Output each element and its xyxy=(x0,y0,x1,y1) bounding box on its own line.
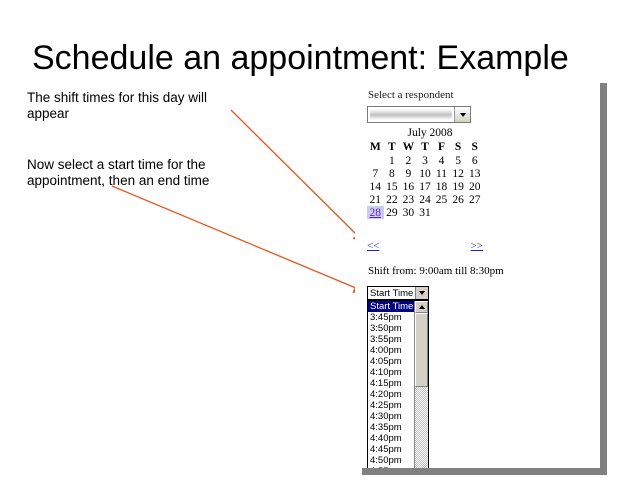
caret-up-icon[interactable] xyxy=(415,301,428,313)
calendar-week-row: 21 22 23 24 25 26 27 xyxy=(367,193,483,206)
calendar-day[interactable]: 2 xyxy=(400,154,417,167)
start-time-selected-value: Start Time xyxy=(368,288,415,299)
calendar-day-selected[interactable]: 28 xyxy=(367,206,384,219)
embedded-screenshot-panel: Select a respondent July 2008 M T W T F … xyxy=(355,83,600,468)
calendar-weekday: T xyxy=(384,140,401,154)
start-time-option[interactable]: 4:10pm xyxy=(368,367,414,378)
callout-text-select-start-time: Now select a start time for the appointm… xyxy=(27,157,242,189)
start-time-option[interactable]: 4:15pm xyxy=(368,378,414,389)
calendar-weekday: M xyxy=(367,140,384,154)
calendar-day[interactable] xyxy=(466,206,483,219)
calendar-weekday: F xyxy=(433,140,450,154)
start-time-option[interactable]: 4:00pm xyxy=(368,345,414,356)
start-time-option[interactable]: 4:50pm xyxy=(368,455,414,466)
listbox-scrollbar[interactable] xyxy=(414,301,428,468)
page-title: Schedule an appointment: Example xyxy=(32,38,612,78)
calendar-day[interactable]: 29 xyxy=(384,206,401,219)
calendar-grid: M T W T F S S 1 2 3 4 xyxy=(367,140,483,219)
calendar-day[interactable]: 15 xyxy=(384,180,401,193)
calendar-weekday-row: M T W T F S S xyxy=(367,140,483,154)
calendar-day[interactable] xyxy=(450,206,467,219)
calendar-day[interactable] xyxy=(433,206,450,219)
start-time-option[interactable]: 4:45pm xyxy=(368,444,414,455)
calendar-widget: July 2008 M T W T F S S xyxy=(367,127,487,219)
start-time-option[interactable]: 3:50pm xyxy=(368,323,414,334)
calendar-day[interactable]: 20 xyxy=(466,180,483,193)
start-time-select-closed[interactable]: Start Time xyxy=(367,286,429,300)
start-time-option[interactable]: 4:40pm xyxy=(368,433,414,444)
calendar-day[interactable]: 8 xyxy=(384,167,401,180)
calendar-day[interactable]: 22 xyxy=(384,193,401,206)
calendar-day[interactable]: 5 xyxy=(450,154,467,167)
calendar-navigation: << >> xyxy=(367,240,483,252)
calendar-day[interactable]: 3 xyxy=(417,154,434,167)
calendar-day[interactable]: 27 xyxy=(466,193,483,206)
calendar-day[interactable]: 12 xyxy=(450,167,467,180)
calendar-weekday: T xyxy=(417,140,434,154)
calendar-next-month-link[interactable]: >> xyxy=(471,240,483,252)
calendar-day[interactable]: 14 xyxy=(367,180,384,193)
callout-text-shift-times: The shift times for this day will appear xyxy=(27,90,242,122)
calendar-day[interactable]: 11 xyxy=(433,167,450,180)
chevron-down-icon[interactable] xyxy=(415,287,428,299)
start-time-option[interactable]: 4:25pm xyxy=(368,400,414,411)
scrollbar-track[interactable] xyxy=(415,313,428,468)
start-time-option[interactable]: 4:30pm xyxy=(368,411,414,422)
calendar-week-row: 28 29 30 31 xyxy=(367,206,483,219)
calendar-day[interactable]: 26 xyxy=(450,193,467,206)
calendar-weekday: S xyxy=(466,140,483,154)
start-time-option[interactable]: 3:55pm xyxy=(368,334,414,345)
calendar-day[interactable]: 16 xyxy=(400,180,417,193)
chevron-down-icon[interactable] xyxy=(454,107,470,122)
calendar-day[interactable]: 4 xyxy=(433,154,450,167)
start-time-listbox-open[interactable]: Start Time 3:45pm 3:50pm 3:55pm 4:00pm 4… xyxy=(367,300,429,468)
shift-hours-text: Shift from: 9:00am till 8:30pm xyxy=(368,265,504,277)
start-time-option[interactable]: 4:35pm xyxy=(368,422,414,433)
respondent-selected-value xyxy=(370,109,452,120)
panel-shadow-bottom xyxy=(362,468,607,475)
calendar-week-row: 1 2 3 4 5 6 xyxy=(367,154,483,167)
calendar-day[interactable]: 19 xyxy=(450,180,467,193)
calendar-day[interactable]: 30 xyxy=(400,206,417,219)
scrollbar-thumb[interactable] xyxy=(415,313,428,387)
start-time-option[interactable]: Start Time xyxy=(368,301,414,312)
calendar-day[interactable]: 10 xyxy=(417,167,434,180)
calendar-day[interactable]: 6 xyxy=(466,154,483,167)
start-time-option-list[interactable]: Start Time 3:45pm 3:50pm 3:55pm 4:00pm 4… xyxy=(368,301,414,468)
start-time-option[interactable]: 3:45pm xyxy=(368,312,414,323)
calendar-day[interactable]: 25 xyxy=(433,193,450,206)
calendar-weekday: W xyxy=(400,140,417,154)
calendar-day[interactable]: 31 xyxy=(417,206,434,219)
calendar-month-label: July 2008 xyxy=(367,127,487,139)
calendar-weekday: S xyxy=(450,140,467,154)
calendar-day[interactable] xyxy=(367,154,384,167)
calendar-prev-month-link[interactable]: << xyxy=(367,240,379,252)
calendar-day[interactable]: 21 xyxy=(367,193,384,206)
calendar-day[interactable]: 18 xyxy=(433,180,450,193)
calendar-day[interactable]: 13 xyxy=(466,167,483,180)
calendar-week-row: 7 8 9 10 11 12 13 xyxy=(367,167,483,180)
start-time-option[interactable]: 4:05pm xyxy=(368,356,414,367)
respondent-select[interactable] xyxy=(367,106,471,123)
calendar-day[interactable]: 23 xyxy=(400,193,417,206)
respondent-label: Select a respondent xyxy=(368,89,454,101)
calendar-week-row: 14 15 16 17 18 19 20 xyxy=(367,180,483,193)
calendar-day[interactable]: 7 xyxy=(367,167,384,180)
start-time-option[interactable]: 4:20pm xyxy=(368,389,414,400)
calendar-day[interactable]: 9 xyxy=(400,167,417,180)
start-time-option[interactable]: 4:55pm xyxy=(368,466,414,468)
calendar-day[interactable]: 24 xyxy=(417,193,434,206)
arrow-to-start-time xyxy=(112,186,363,291)
calendar-day[interactable]: 17 xyxy=(417,180,434,193)
arrow-to-calendar xyxy=(231,110,363,241)
panel-shadow-right xyxy=(600,83,607,475)
calendar-day[interactable]: 1 xyxy=(384,154,401,167)
